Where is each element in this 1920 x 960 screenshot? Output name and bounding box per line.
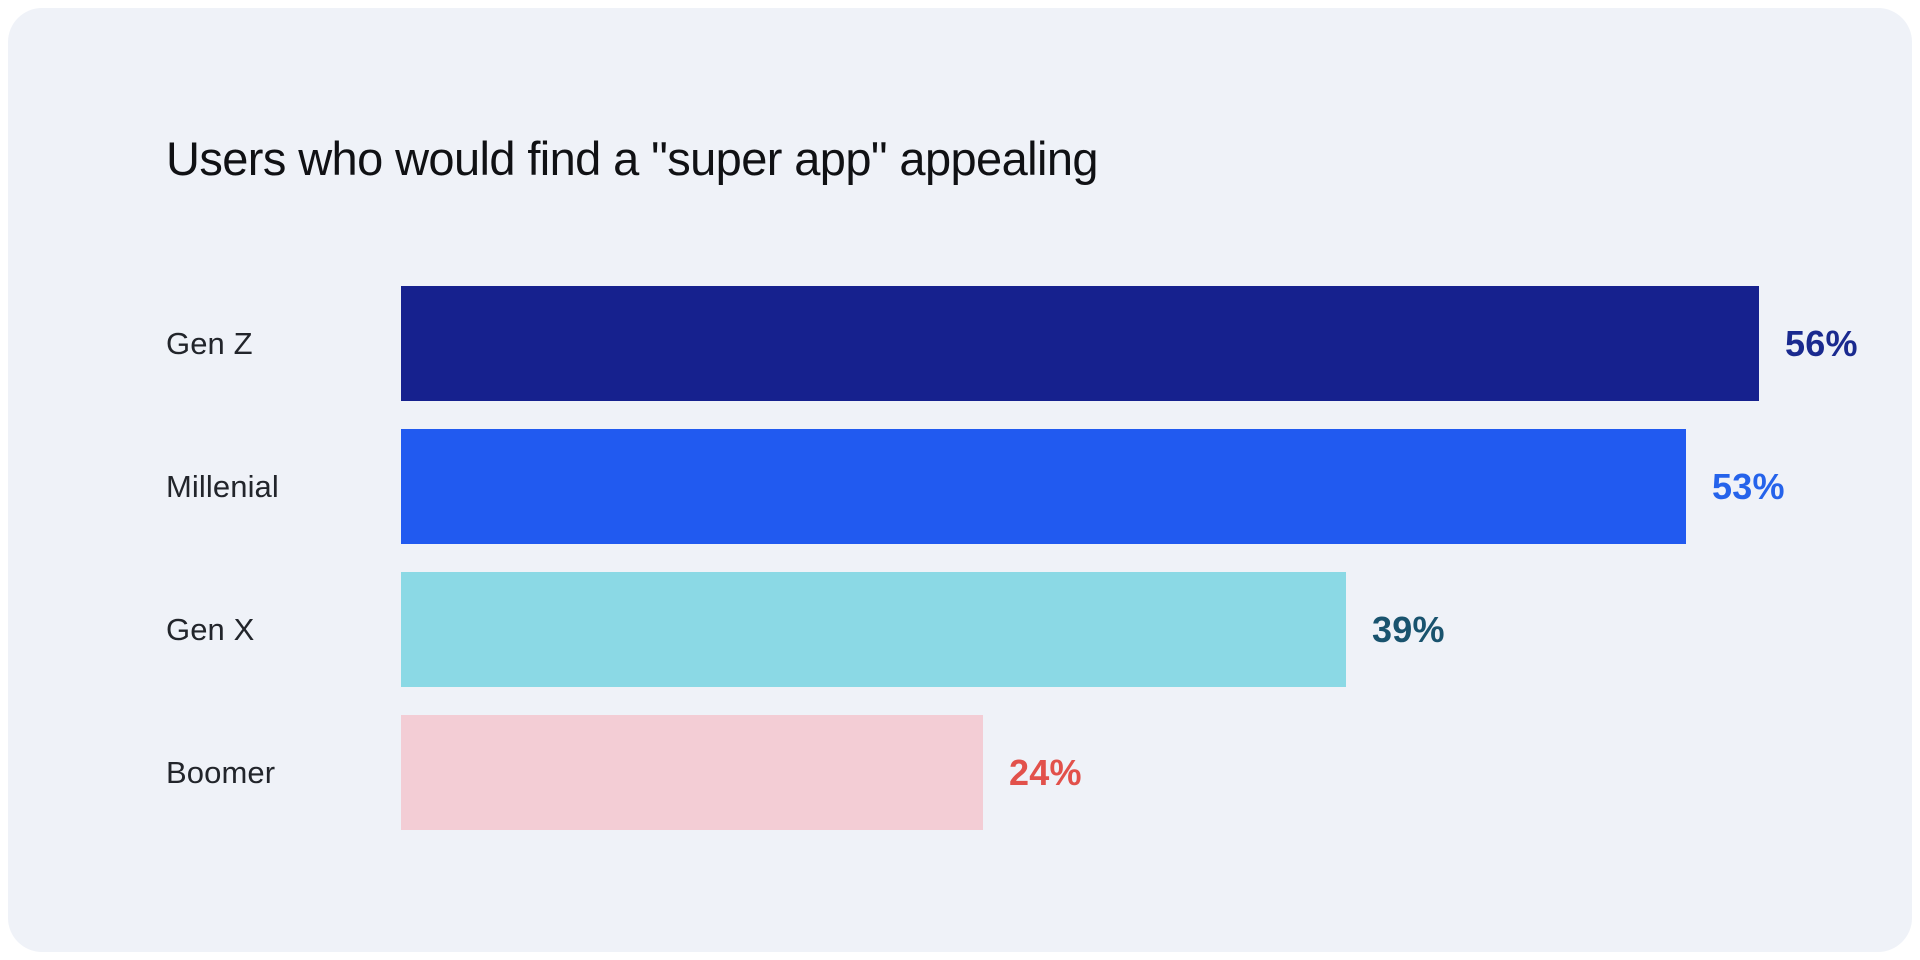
- bar-row: Gen Z 56%: [8, 286, 1912, 401]
- value-label-gen-z: 56%: [1785, 286, 1858, 401]
- page-root: Users who would find a "super app" appea…: [0, 0, 1920, 960]
- value-label-millenial: 53%: [1712, 429, 1785, 544]
- chart-card: Users who would find a "super app" appea…: [8, 8, 1912, 952]
- category-label-millenial: Millenial: [166, 429, 279, 544]
- page-title: Users who would find a "super app" appea…: [166, 131, 1098, 187]
- category-label-boomer: Boomer: [166, 715, 275, 830]
- bar-track: 56%: [401, 286, 1912, 401]
- category-label-gen-x: Gen X: [166, 572, 254, 687]
- bar-millenial: [401, 429, 1686, 544]
- bar-track: 24%: [401, 715, 1912, 830]
- bar-row: Millenial 53%: [8, 429, 1912, 544]
- bar-track: 39%: [401, 572, 1912, 687]
- bar-row: Gen X 39%: [8, 572, 1912, 687]
- bar-gen-z: [401, 286, 1759, 401]
- value-label-boomer: 24%: [1009, 715, 1082, 830]
- bar-boomer: [401, 715, 983, 830]
- category-label-gen-z: Gen Z: [166, 286, 253, 401]
- bar-track: 53%: [401, 429, 1912, 544]
- bar-gen-x: [401, 572, 1346, 687]
- bar-row: Boomer 24%: [8, 715, 1912, 830]
- value-label-gen-x: 39%: [1372, 572, 1445, 687]
- bar-chart-plot-area: Gen Z 56% Millenial 53% Gen X 39%: [8, 286, 1912, 858]
